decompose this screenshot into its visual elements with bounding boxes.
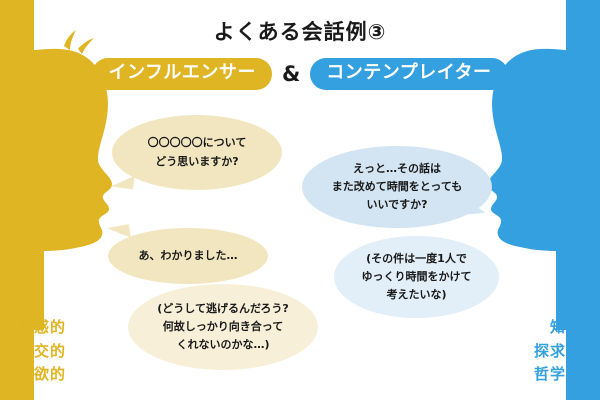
badge-contemplator[interactable]: コンテンプレイター (310, 58, 507, 90)
contemplator-keyword-1: 知的 (534, 316, 582, 339)
bubble-2-line-1: えっと…その話は (353, 160, 441, 178)
bubble-4-line-3: 考えたいな) (386, 286, 446, 304)
bubble-1-line-2: どう思いますか? (155, 153, 238, 171)
bubble-3: あ、わかりました… (108, 228, 268, 284)
influencer-keyword-3: 意欲的 (18, 363, 66, 386)
ampersand-separator: & (282, 62, 300, 86)
bubble-5-line-1: (どうして逃げるんだろう? (157, 300, 288, 318)
contemplator-keyword-3: 哲学的 (534, 363, 582, 386)
bubble-2-line-2: また改めて時間をとっても (332, 178, 463, 196)
infographic-canvas: よくある会話例③ インフルエンサー & コンテンプレイター 〇〇〇〇〇について … (0, 0, 600, 400)
bubble-4-line-1: (その件は一度1人で (366, 250, 467, 268)
bubble-2-line-3: いいですか? (366, 196, 427, 214)
bubble-4-line-2: ゆっくり時間をかけて (362, 268, 472, 286)
bubble-1-line-1: 〇〇〇〇〇について (148, 134, 247, 152)
bubble-5-line-3: くれないのかな…) (176, 336, 269, 354)
contemplator-keyword-2: 探求的 (534, 340, 582, 363)
page-title: よくある会話例③ (0, 16, 600, 46)
influencer-keywords: 直感的 社交的 意欲的 (18, 316, 66, 386)
contemplator-keywords: 知的 探求的 哲学的 (534, 316, 582, 386)
influencer-keyword-2: 社交的 (18, 340, 66, 363)
influencer-keyword-1: 直感的 (18, 316, 66, 339)
badge-influencer[interactable]: インフルエンサー (92, 58, 271, 90)
bubble-3-line-1: あ、わかりました… (139, 247, 238, 265)
bubble-2: えっと…その話は また改めて時間をとっても いいですか? (302, 146, 492, 228)
bubble-1: 〇〇〇〇〇について どう思いますか? (112, 115, 282, 190)
bubble-5-line-2: 何故しっかり向き合って (163, 318, 283, 336)
bubble-5: (どうして逃げるんだろう? 何故しっかり向き合って くれないのかな…) (128, 284, 318, 370)
role-badge-row: インフルエンサー & コンテンプレイター (0, 58, 600, 90)
bubble-4: (その件は一度1人で ゆっくり時間をかけて 考えたいな) (334, 236, 499, 318)
